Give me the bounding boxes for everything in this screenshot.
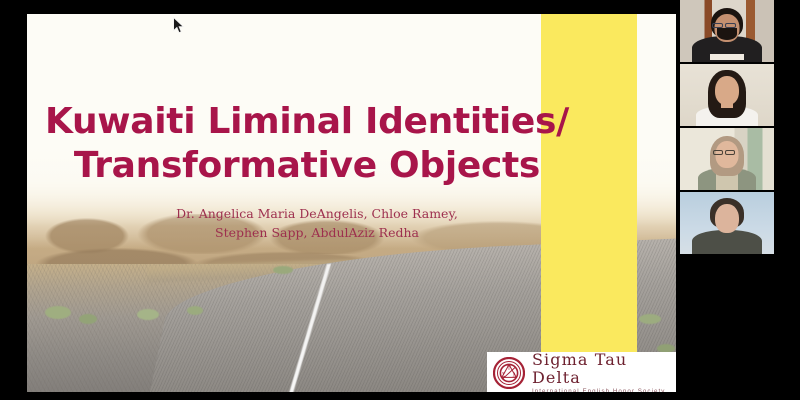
participant-glasses-3b (725, 150, 735, 155)
brush-4 (187, 306, 203, 315)
logo-tagline: International English Honor Society (532, 387, 676, 393)
participant-body-4 (692, 230, 762, 254)
participant-tile-2[interactable] (680, 64, 774, 126)
shared-screen-slide[interactable]: Kuwaiti Liminal Identities/ Transformati… (27, 14, 676, 392)
meeting-window: Kuwaiti Liminal Identities/ Transformati… (0, 0, 800, 400)
participant-tile-4[interactable] (680, 192, 774, 254)
participant-glasses-3 (713, 150, 723, 155)
participant-neck-4 (722, 224, 733, 232)
brush-5 (273, 266, 293, 274)
participant-glasses-1b (725, 23, 736, 28)
participant-filmstrip[interactable] (680, 0, 774, 400)
participant-shirt-graphic-1 (710, 54, 744, 60)
participant-glasses-1 (712, 23, 723, 28)
svg-text:Τ: Τ (507, 366, 511, 372)
sigma-tau-delta-seal-icon: Τ Σ Δ (493, 357, 525, 389)
accent-stripe (541, 14, 637, 392)
sigma-tau-delta-logo: Τ Σ Δ Sigma Tau Delta International Engl… (487, 352, 676, 392)
participant-neck-2 (721, 100, 733, 108)
participant-beard-1 (717, 28, 737, 40)
svg-text:Δ: Δ (513, 372, 517, 378)
brush-6 (639, 314, 661, 324)
logo-organization-name: Sigma Tau Delta (532, 351, 676, 387)
brush-2 (79, 314, 97, 324)
participant-tile-3[interactable] (680, 128, 774, 190)
brush-1 (45, 306, 71, 319)
slide-title: Kuwaiti Liminal Identities/ Transformati… (27, 100, 587, 188)
slide-authors: Dr. Angelica Maria DeAngelis, Chloe Rame… (67, 204, 567, 242)
participant-tile-1[interactable] (680, 0, 774, 62)
brush-3 (137, 309, 159, 320)
